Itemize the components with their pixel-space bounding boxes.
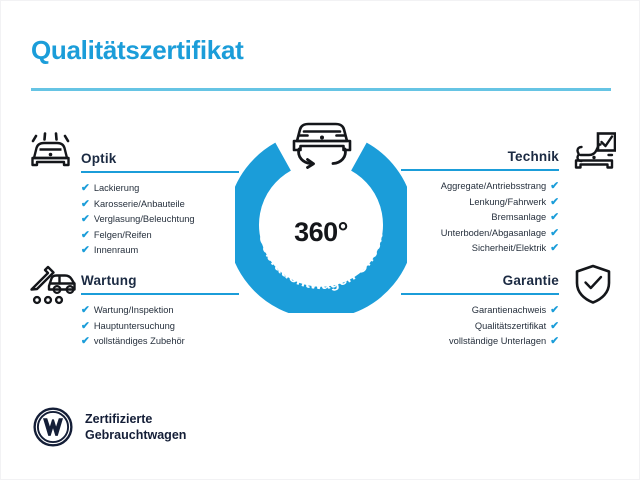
list-item: ✔Verglasung/Beleuchtung: [81, 212, 239, 228]
section-list-technik: Aggregate/Antriebsstrang✔ Lenkung/Fahrwe…: [401, 179, 559, 257]
check-icon: ✔: [550, 335, 559, 347]
list-item-label: Qualitätszertifikat: [475, 321, 546, 331]
section-divider-garantie: [401, 293, 559, 295]
section-heading-technik: Technik: [401, 149, 559, 164]
shield-check-icon: [573, 263, 613, 310]
list-item: ✔Lackierung: [81, 181, 239, 197]
check-icon: ✔: [550, 227, 559, 239]
list-item-label: Aggregate/Antriebsstrang: [441, 181, 546, 191]
check-icon: ✔: [81, 335, 90, 347]
list-item-label: Sicherheit/Elektrik: [472, 243, 546, 253]
check-icon: ✔: [81, 182, 90, 194]
section-heading-optik: Optik: [81, 151, 239, 166]
list-item-label: Innenraum: [94, 245, 138, 255]
section-divider-wartung: [81, 293, 239, 295]
section-list-wartung: ✔Wartung/Inspektion ✔Hauptuntersuchung ✔…: [81, 303, 239, 350]
section-heading-garantie: Garantie: [401, 273, 559, 288]
list-item-label: Garantienachweis: [472, 305, 546, 315]
list-item-label: Verglasung/Beleuchtung: [94, 214, 195, 224]
list-item-label: Wartung/Inspektion: [94, 305, 174, 315]
check-icon: ✔: [550, 320, 559, 332]
list-item: ✔Karosserie/Anbauteile: [81, 197, 239, 213]
list-item: Sicherheit/Elektrik✔: [401, 241, 559, 257]
section-technik: Technik Aggregate/Antriebsstrang✔ Lenkun…: [401, 149, 559, 257]
list-item: Garantienachweis✔: [401, 303, 559, 319]
list-item: vollständige Unterlagen✔: [401, 334, 559, 350]
footer-line-1: Zertifizierte: [85, 411, 186, 427]
page-title: Qualitätszertifikat: [31, 35, 243, 66]
check-icon: ✔: [81, 320, 90, 332]
list-item: Bremsanlage✔: [401, 210, 559, 226]
list-item: ✔Felgen/Reifen: [81, 228, 239, 244]
list-item-label: Lackierung: [94, 183, 139, 193]
title-divider: [31, 88, 611, 91]
list-item-label: Bremsanlage: [491, 212, 546, 222]
car-front-rotate-icon: [283, 113, 361, 175]
check-icon: ✔: [550, 211, 559, 223]
car-shine-icon: [28, 132, 74, 177]
list-item: ✔Innenraum: [81, 243, 239, 259]
list-item: ✔vollständiges Zubehör: [81, 334, 239, 350]
section-wartung: Wartung ✔Wartung/Inspektion ✔Hauptunters…: [81, 273, 239, 350]
section-list-garantie: Garantienachweis✔ Qualitätszertifikat✔ v…: [401, 303, 559, 350]
list-item: ✔Hauptuntersuchung: [81, 319, 239, 335]
section-divider-technik: [401, 169, 559, 171]
badge-value: 360°: [235, 217, 407, 248]
check-icon: ✔: [81, 213, 90, 225]
qualitaetszertifikat-document: Qualitätszertifikat Optik ✔Lackierung ✔K…: [0, 0, 640, 480]
check-icon: ✔: [81, 198, 90, 210]
check-icon: ✔: [550, 242, 559, 254]
footer-brand-text: Zertifizierte Gebrauchtwagen: [85, 411, 186, 443]
check-icon: ✔: [81, 244, 90, 256]
list-item-label: Felgen/Reifen: [94, 230, 152, 240]
volkswagen-logo: [33, 407, 73, 447]
list-item: Unterboden/Abgasanlage✔: [401, 226, 559, 242]
footer-line-2: Gebrauchtwagen: [85, 427, 186, 443]
list-item-label: Lenkung/Fahrwerk: [469, 197, 546, 207]
car-checkbox-icon: [568, 131, 616, 178]
list-item-label: Unterboden/Abgasanlage: [441, 228, 546, 238]
list-item-label: Hauptuntersuchung: [94, 321, 175, 331]
check-icon: ✔: [81, 304, 90, 316]
check-icon: ✔: [81, 229, 90, 241]
list-item: Lenkung/Fahrwerk✔: [401, 195, 559, 211]
list-item-label: vollständige Unterlagen: [449, 336, 546, 346]
check-icon: ✔: [550, 180, 559, 192]
list-item-label: vollständiges Zubehör: [94, 336, 185, 346]
check-icon: ✔: [550, 304, 559, 316]
list-item-label: Karosserie/Anbauteile: [94, 199, 185, 209]
list-item: Aggregate/Antriebsstrang✔: [401, 179, 559, 195]
section-heading-wartung: Wartung: [81, 273, 239, 288]
section-divider-optik: [81, 171, 239, 173]
car-wrench-icon: [28, 264, 78, 311]
footer-brand: Zertifizierte Gebrauchtwagen: [33, 407, 186, 447]
list-item: ✔Wartung/Inspektion: [81, 303, 239, 319]
gebrauchtwagen-check-badge: Gebrauchtwagen-Check 360°: [235, 113, 407, 313]
section-optik: Optik ✔Lackierung ✔Karosserie/Anbauteile…: [81, 151, 239, 259]
section-garantie: Garantie Garantienachweis✔ Qualitätszert…: [401, 273, 559, 350]
section-list-optik: ✔Lackierung ✔Karosserie/Anbauteile ✔Verg…: [81, 181, 239, 259]
list-item: Qualitätszertifikat✔: [401, 319, 559, 335]
check-icon: ✔: [550, 196, 559, 208]
